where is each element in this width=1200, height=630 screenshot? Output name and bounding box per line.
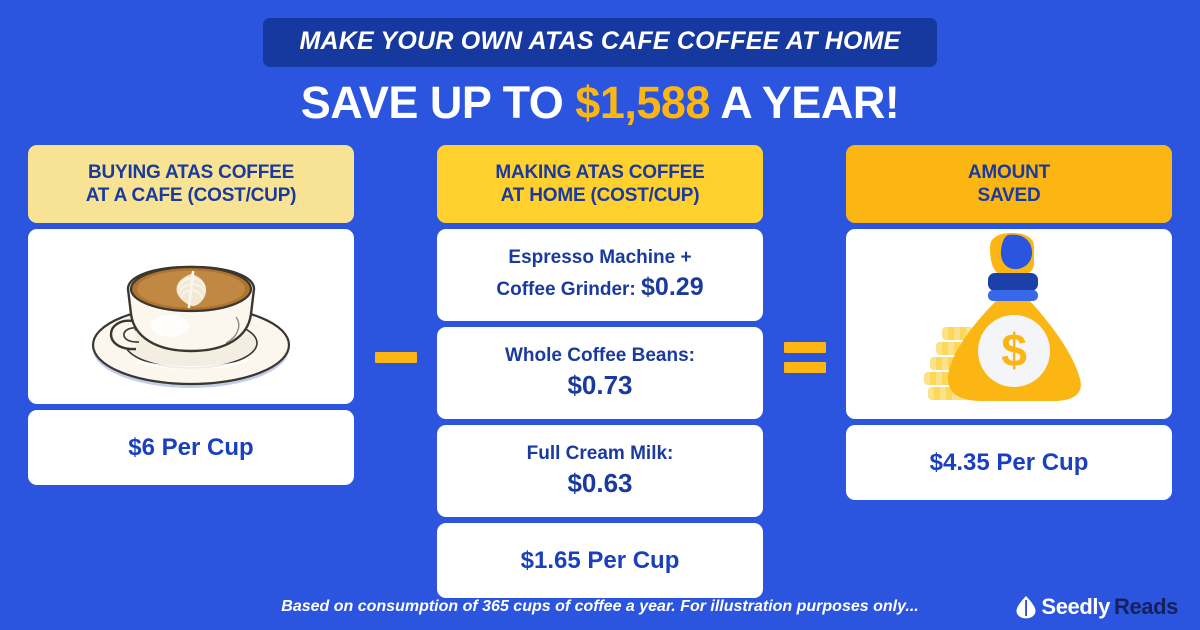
- cost-item-coffee-beans-value: $0.73: [567, 368, 632, 403]
- operator-minus: [354, 145, 437, 570]
- headline-prefix: SAVE UP TO: [301, 77, 576, 128]
- column-home: MAKING ATAS COFFEE AT HOME (COST/CUP) Es…: [437, 145, 763, 598]
- minus-sign-icon: [375, 352, 417, 363]
- footer: Based on consumption of 365 cups of coff…: [0, 598, 1200, 616]
- cost-item-espresso-machine-label-line2: Coffee Grinder: $0.29: [496, 271, 703, 305]
- cost-item-full-cream-milk: Full Cream Milk: $0.63: [437, 425, 763, 517]
- column-saved-header: AMOUNT SAVED: [846, 145, 1172, 223]
- seedly-reads-logo: SeedlyReads: [1015, 594, 1178, 620]
- column-home-header: MAKING ATAS COFFEE AT HOME (COST/CUP): [437, 145, 763, 223]
- column-saved: AMOUNT SAVED: [846, 145, 1172, 500]
- cost-item-espresso-machine: Espresso Machine + Coffee Grinder: $0.29: [437, 229, 763, 321]
- headline-amount: $1,588: [575, 77, 710, 128]
- cost-item-coffee-beans: Whole Coffee Beans: $0.73: [437, 327, 763, 419]
- page-headline: SAVE UP TO $1,588 A YEAR!: [0, 79, 1200, 126]
- comparison-board: BUYING ATAS COFFEE AT A CAFE (COST/CUP): [0, 145, 1200, 570]
- cost-item-espresso-machine-value: $0.29: [641, 273, 704, 301]
- coffee-cup-icon: [66, 229, 316, 404]
- cost-item-full-cream-milk-label: Full Cream Milk:: [527, 441, 674, 467]
- column-cafe-total: $6 Per Cup: [28, 410, 354, 485]
- cost-item-coffee-beans-label: Whole Coffee Beans:: [505, 343, 695, 369]
- equals-bar-top: [784, 342, 826, 353]
- column-saved-total: $4.35 Per Cup: [846, 425, 1172, 500]
- column-home-total: $1.65 Per Cup: [437, 523, 763, 598]
- cost-item-espresso-machine-label-line1: Espresso Machine +: [508, 245, 691, 271]
- footer-disclaimer: Based on consumption of 365 cups of coff…: [281, 598, 918, 616]
- logo-secondary-text: Reads: [1114, 594, 1178, 620]
- column-cafe-header-line1: BUYING ATAS COFFEE: [36, 161, 346, 184]
- column-home-header-line1: MAKING ATAS COFFEE: [445, 161, 755, 184]
- column-cafe-header-line2: AT A CAFE (COST/CUP): [36, 184, 346, 207]
- banner-title: MAKE YOUR OWN ATAS CAFE COFFEE AT HOME: [263, 18, 936, 67]
- column-cafe-illustration-card: [28, 229, 354, 404]
- column-home-header-line2: AT HOME (COST/CUP): [445, 184, 755, 207]
- operator-equals: [763, 145, 846, 570]
- equals-sign-icon: [784, 342, 826, 373]
- logo-primary-text: Seedly: [1041, 594, 1110, 620]
- cost-item-full-cream-milk-value: $0.63: [567, 466, 632, 501]
- banner-container: MAKE YOUR OWN ATAS CAFE COFFEE AT HOME: [0, 0, 1200, 67]
- column-saved-header-line2: SAVED: [854, 184, 1164, 207]
- svg-text:$: $: [1001, 324, 1027, 376]
- headline-suffix: A YEAR!: [710, 77, 899, 128]
- column-cafe-header: BUYING ATAS COFFEE AT A CAFE (COST/CUP): [28, 145, 354, 223]
- equals-bar-bottom: [784, 362, 826, 373]
- cost-item-espresso-machine-label2-text: Coffee Grinder:: [496, 279, 635, 300]
- money-bag-icon: $: [902, 229, 1117, 419]
- column-home-item-list: Espresso Machine + Coffee Grinder: $0.29…: [437, 229, 763, 517]
- seedly-leaf-icon: [1015, 595, 1037, 619]
- column-saved-illustration-card: $: [846, 229, 1172, 419]
- column-saved-header-line1: AMOUNT: [854, 161, 1164, 184]
- column-cafe: BUYING ATAS COFFEE AT A CAFE (COST/CUP): [28, 145, 354, 485]
